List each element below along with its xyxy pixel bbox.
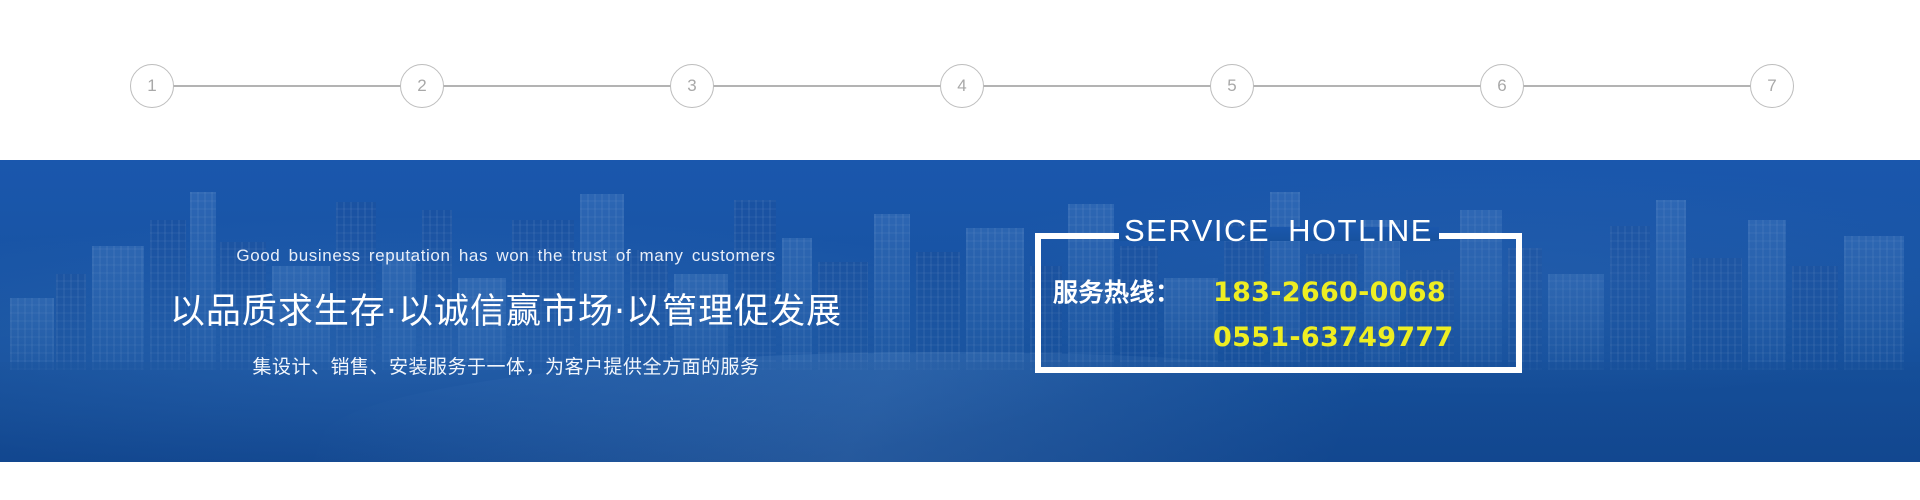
pagination-item-label: 2	[417, 76, 426, 95]
hotline-row-primary: 服务热线： 183-2660-0068	[1053, 273, 1504, 309]
pagination-item-3[interactable]: 3	[670, 64, 714, 108]
pagination-item-4[interactable]: 4	[940, 64, 984, 108]
pagination: 1 2 3 4 5 6 7	[130, 64, 1794, 108]
hotline-title: SERVICE HOTLINE	[1035, 213, 1522, 249]
hotline-row-secondary: 服务热线： 0551-63749777	[1053, 318, 1504, 354]
pagination-item-5[interactable]: 5	[1210, 64, 1254, 108]
pagination-item-label: 1	[147, 76, 156, 95]
pagination-item-7[interactable]: 7	[1750, 64, 1794, 108]
pagination-item-2[interactable]: 2	[400, 64, 444, 108]
pagination-item-label: 6	[1497, 76, 1506, 95]
page-root: 1 2 3 4 5 6 7	[0, 0, 1920, 500]
slogan-block: Good business reputation has won the tru…	[0, 246, 1012, 379]
service-hotline-box: SERVICE HOTLINE 服务热线： 183-2660-0068 服务热线…	[1035, 233, 1522, 373]
footer-white-strip	[0, 462, 1920, 500]
slogan-chinese-sub: 集设计、销售、安装服务于一体，为客户提供全方面的服务	[0, 352, 1012, 379]
slogan-chinese-main: 以品质求生存·以诚信赢市场·以管理促发展	[0, 283, 1012, 334]
pagination-strip: 1 2 3 4 5 6 7	[0, 0, 1920, 160]
pagination-item-1[interactable]: 1	[130, 64, 174, 108]
slogan-english: Good business reputation has won the tru…	[0, 246, 1012, 266]
hotline-label: 服务热线：	[1053, 273, 1201, 309]
promo-banner: Good business reputation has won the tru…	[0, 160, 1920, 462]
hotline-number-secondary[interactable]: 0551-63749777	[1213, 322, 1454, 353]
pagination-item-label: 4	[957, 76, 966, 95]
pagination-item-label: 5	[1227, 76, 1236, 95]
pagination-item-label: 3	[687, 76, 696, 95]
pagination-item-label: 7	[1767, 76, 1776, 95]
hotline-rows: 服务热线： 183-2660-0068 服务热线： 0551-63749777	[1035, 273, 1522, 354]
pagination-item-6[interactable]: 6	[1480, 64, 1524, 108]
hotline-number-primary[interactable]: 183-2660-0068	[1213, 277, 1446, 308]
